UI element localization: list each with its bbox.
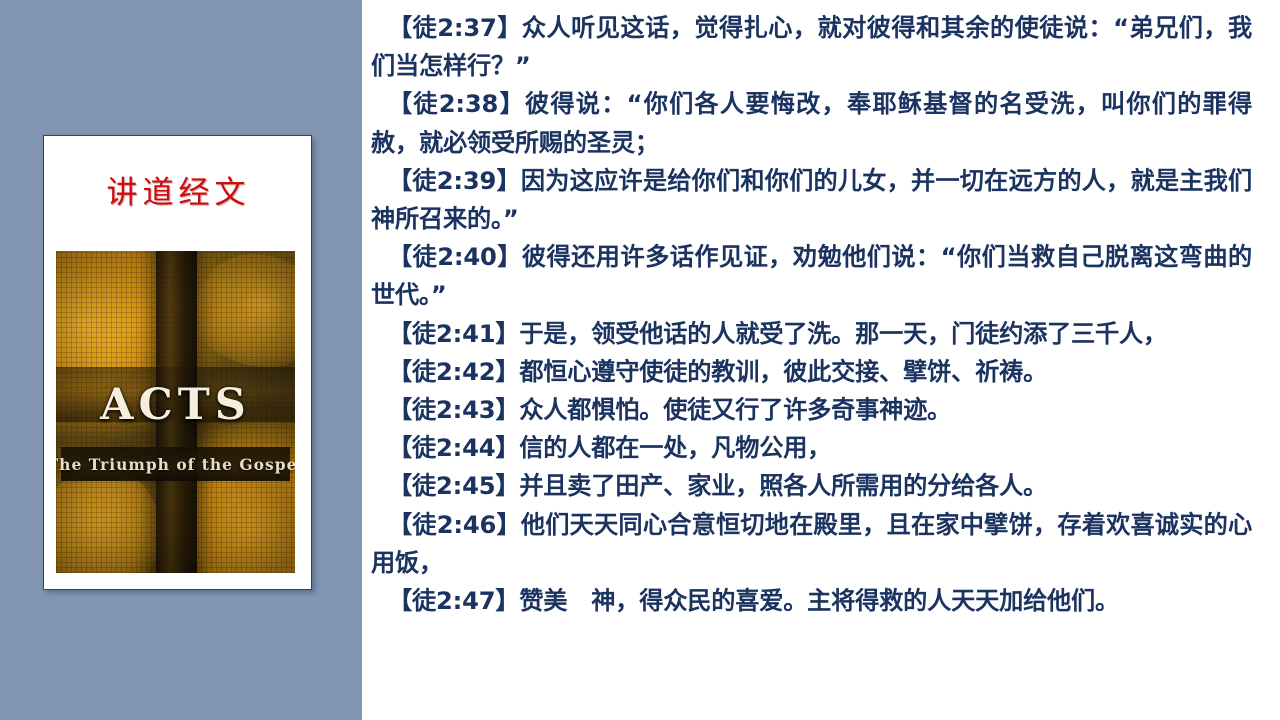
verse-paragraph: 【徒2:45】并且卖了田产、家业，照各人所需用的分给各人。 bbox=[371, 467, 1252, 505]
acts-cover-subtitle-bar: The Triumph of the Gospel bbox=[61, 447, 290, 481]
verse-paragraph: 【徒2:42】都恒心遵守使徒的教训，彼此交接、擘饼、祈祷。 bbox=[371, 353, 1252, 391]
verse-paragraph: 【徒2:39】因为这应许是给你们和你们的儿女，并一切在远方的人，就是主我们 神所… bbox=[371, 162, 1252, 238]
acts-book-cover-image: ACTS The Triumph of the Gospel bbox=[56, 251, 295, 573]
scripture-text-panel: 【徒2:37】众人听见这话，觉得扎心，就对彼得和其余的使徒说：“弟兄们，我们当怎… bbox=[362, 0, 1280, 720]
verse-paragraph: 【徒2:44】信的人都在一处，凡物公用， bbox=[371, 429, 1252, 467]
verse-paragraph: 【徒2:41】于是，领受他话的人就受了洗。那一天，门徒约添了三千人， bbox=[371, 315, 1252, 353]
acts-cover-subtitle: The Triumph of the Gospel bbox=[56, 455, 295, 474]
verse-paragraph: 【徒2:46】他们天天同心合意恒切地在殿里，且在家中擘饼，存着欢喜诚实的心用饭， bbox=[371, 506, 1252, 582]
sermon-scripture-card: 讲道经文 ACTS The Triumph of the Gospel bbox=[43, 135, 312, 590]
acts-cover-title: ACTS bbox=[56, 380, 295, 430]
slide-canvas: 讲道经文 ACTS The Triumph of the Gospel 【徒2:… bbox=[0, 0, 1280, 720]
card-title: 讲道经文 bbox=[44, 136, 313, 251]
verse-paragraph: 【徒2:38】彼得说：“你们各人要悔改，奉耶稣基督的名受洗，叫你们的罪得赦，就必… bbox=[371, 85, 1252, 161]
verse-paragraph: 【徒2:43】众人都惧怕。使徒又行了许多奇事神迹。 bbox=[371, 391, 1252, 429]
verse-paragraph: 【徒2:37】众人听见这话，觉得扎心，就对彼得和其余的使徒说：“弟兄们，我们当怎… bbox=[371, 9, 1252, 85]
verse-paragraph: 【徒2:47】赞美 神，得众民的喜爱。主将得救的人天天加给他们。 bbox=[371, 582, 1252, 620]
left-panel: 讲道经文 ACTS The Triumph of the Gospel bbox=[0, 0, 362, 720]
verse-paragraph: 【徒2:40】彼得还用许多话作见证，劝勉他们说：“你们当救自己脱离这弯曲的世代。… bbox=[371, 238, 1252, 314]
